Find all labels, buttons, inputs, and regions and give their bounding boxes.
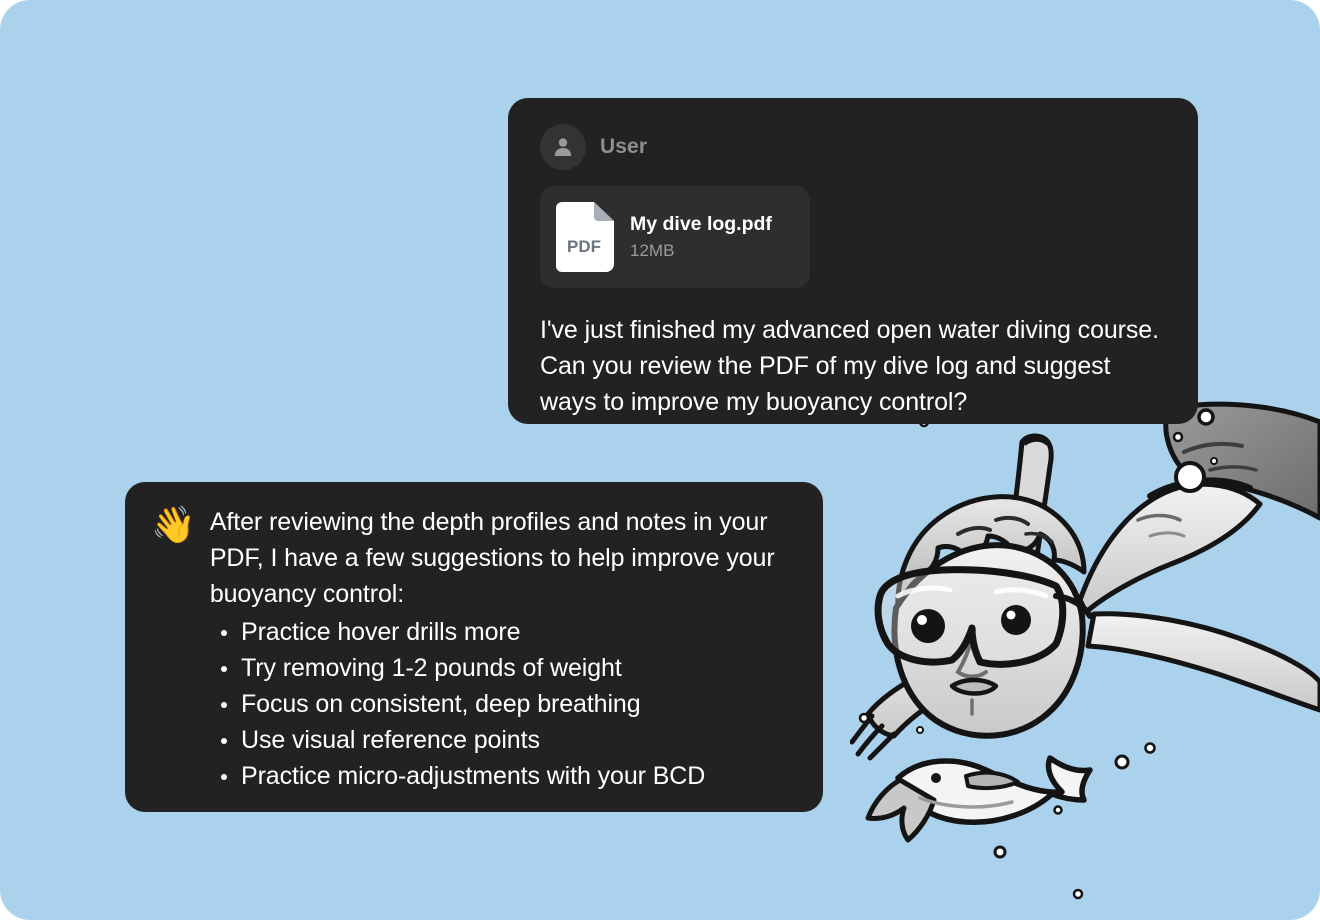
suggestion-list: Practice hover drills more Try removing … bbox=[151, 614, 793, 794]
list-item: Try removing 1-2 pounds of weight bbox=[219, 650, 793, 686]
assistant-message-bubble: 👋 After reviewing the depth profiles and… bbox=[125, 482, 823, 812]
assistant-intro-text: After reviewing the depth profiles and n… bbox=[210, 504, 793, 612]
svg-text:PDF: PDF bbox=[567, 237, 601, 256]
avatar bbox=[540, 124, 586, 170]
list-item: Practice micro-adjustments with your BCD bbox=[219, 758, 793, 794]
snorkel-tube bbox=[1000, 436, 1051, 621]
canvas: User PDF My dive log.pdf 12MB I've just … bbox=[0, 0, 1320, 920]
diver-head bbox=[894, 545, 1082, 736]
person-avatar-icon bbox=[551, 135, 575, 159]
diver-right-arm bbox=[1088, 614, 1320, 710]
fish bbox=[868, 758, 1090, 840]
file-attachment-card[interactable]: PDF My dive log.pdf 12MB bbox=[540, 186, 810, 288]
waving-hand-emoji: 👋 bbox=[151, 505, 196, 545]
file-size-label: 12MB bbox=[630, 241, 772, 261]
user-message-bubble: User PDF My dive log.pdf 12MB I've just … bbox=[508, 98, 1198, 424]
user-name-label: User bbox=[600, 135, 647, 159]
diver-left-eye bbox=[911, 609, 945, 643]
list-item: Use visual reference points bbox=[219, 722, 793, 758]
list-item: Practice hover drills more bbox=[219, 614, 793, 650]
diver-hair bbox=[898, 497, 1084, 612]
air-bubbles bbox=[860, 400, 1155, 898]
snorkeler-underwater-illustration bbox=[850, 400, 1320, 920]
list-item: Focus on consistent, deep breathing bbox=[219, 686, 793, 722]
fish-eye bbox=[931, 773, 941, 783]
user-message-text: I've just finished my advanced open wate… bbox=[540, 312, 1166, 420]
assistant-intro: 👋 After reviewing the depth profiles and… bbox=[151, 504, 793, 612]
pdf-file-icon: PDF bbox=[556, 202, 614, 272]
diving-mask bbox=[878, 570, 1090, 665]
diver-left-arm bbox=[852, 632, 1026, 758]
user-header: User bbox=[540, 124, 1166, 170]
diver-right-eye bbox=[1001, 605, 1031, 635]
file-name-label: My dive log.pdf bbox=[630, 213, 772, 236]
